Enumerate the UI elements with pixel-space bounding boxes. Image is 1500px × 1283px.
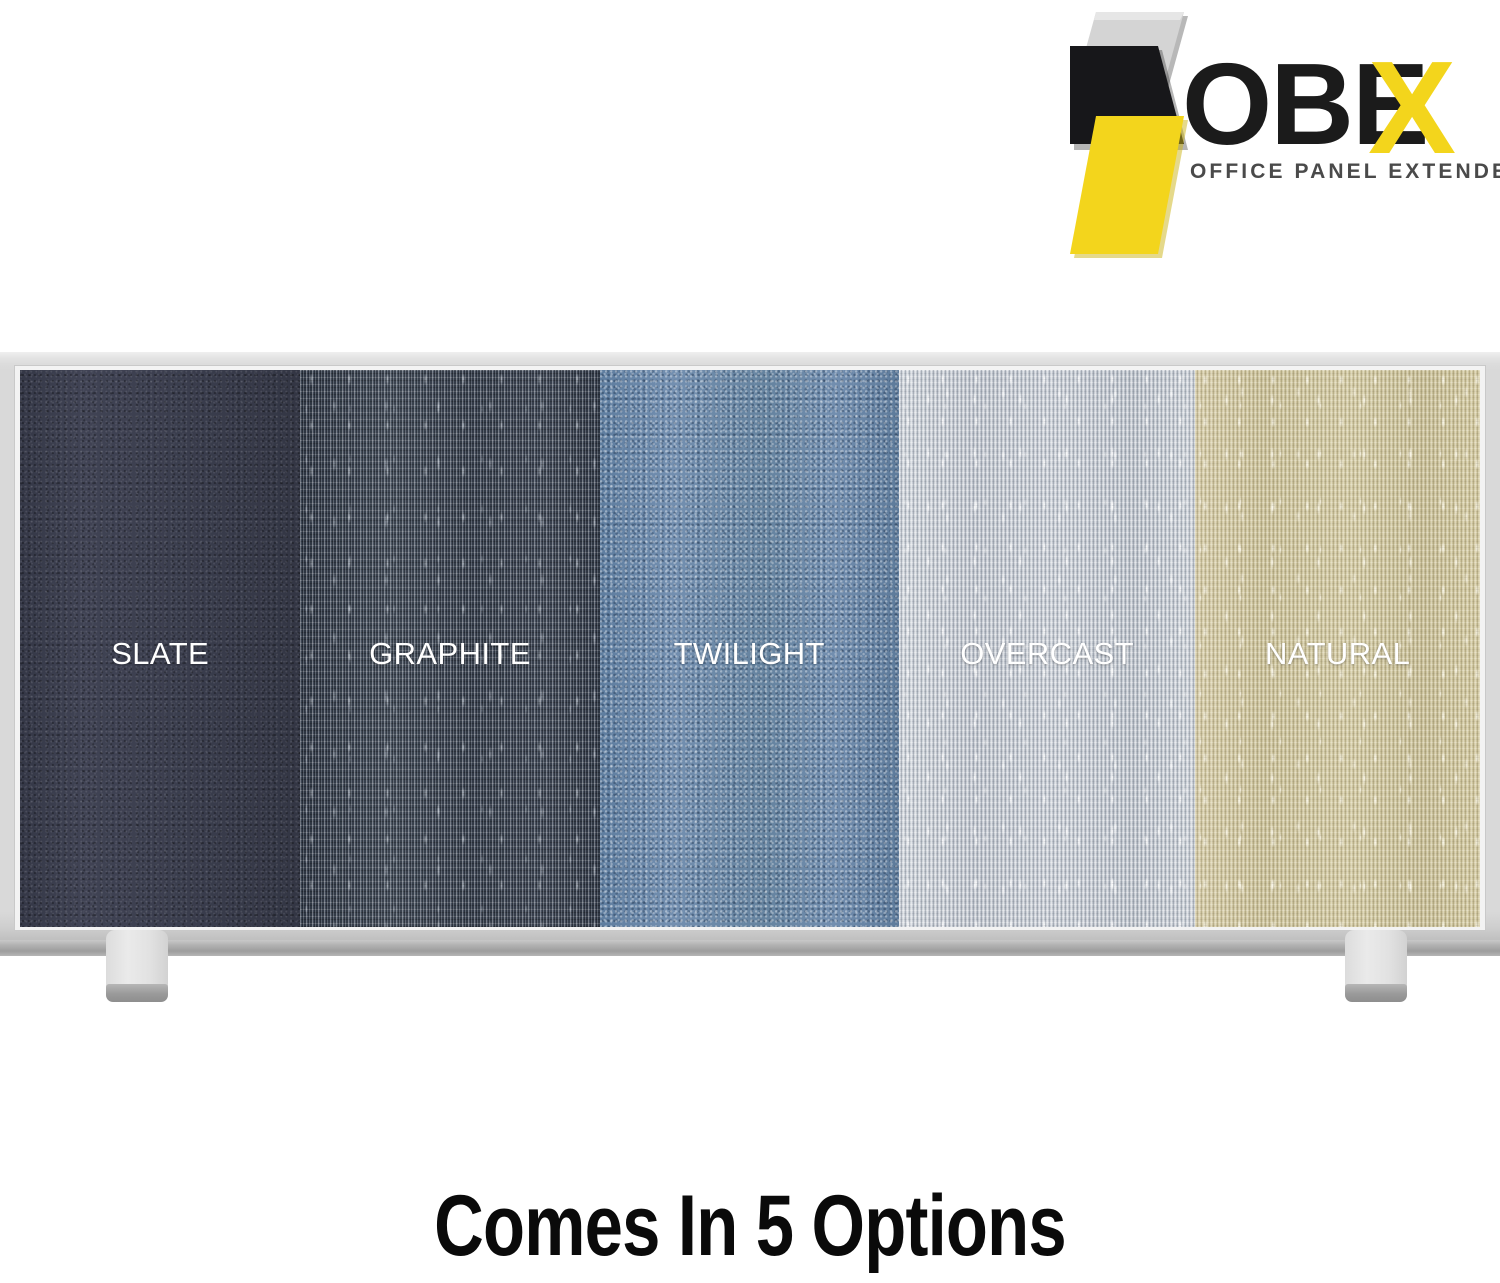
obex-chevron-mark-icon <box>1070 10 1190 258</box>
swatch-label-overcast: OVERCAST <box>899 636 1195 672</box>
panel-bottom-rail <box>0 940 1500 956</box>
obex-wordmark: OBE X <box>1182 46 1472 166</box>
swatch-label-twilight: TWILIGHT <box>600 636 899 672</box>
foot-cap <box>1345 984 1407 1002</box>
wordmark-x: X <box>1368 42 1454 174</box>
panel-foot-left <box>106 930 168 1002</box>
foot-body <box>1345 930 1407 990</box>
brand-tagline: OFFICE PANEL EXTENDERS <box>1190 160 1500 184</box>
panel-assembly: SLATE GRAPHITE TWILIGHT OVERCAST NATURAL <box>0 352 1500 1002</box>
panel-frame: SLATE GRAPHITE TWILIGHT OVERCAST NATURAL <box>0 352 1500 955</box>
swatch-overcast[interactable]: OVERCAST <box>899 370 1195 927</box>
swatch-label-slate: SLATE <box>20 636 300 672</box>
swatch-natural[interactable]: NATURAL <box>1195 370 1480 927</box>
swatch-twilight[interactable]: TWILIGHT <box>600 370 899 927</box>
swatch-graphite[interactable]: GRAPHITE <box>300 370 599 927</box>
caption-text: Comes In 5 Options <box>150 1178 1350 1274</box>
swatch-label-graphite: GRAPHITE <box>300 636 599 672</box>
swatch-slate[interactable]: SLATE <box>20 370 300 927</box>
fabric-swatch-strip: SLATE GRAPHITE TWILIGHT OVERCAST NATURAL <box>20 370 1480 927</box>
swatch-label-natural: NATURAL <box>1195 636 1480 672</box>
foot-cap <box>106 984 168 1002</box>
panel-foot-right <box>1345 930 1407 1002</box>
brand-logo: OBE X OFFICE PANEL EXTENDERS <box>1070 8 1470 258</box>
foot-body <box>106 930 168 990</box>
